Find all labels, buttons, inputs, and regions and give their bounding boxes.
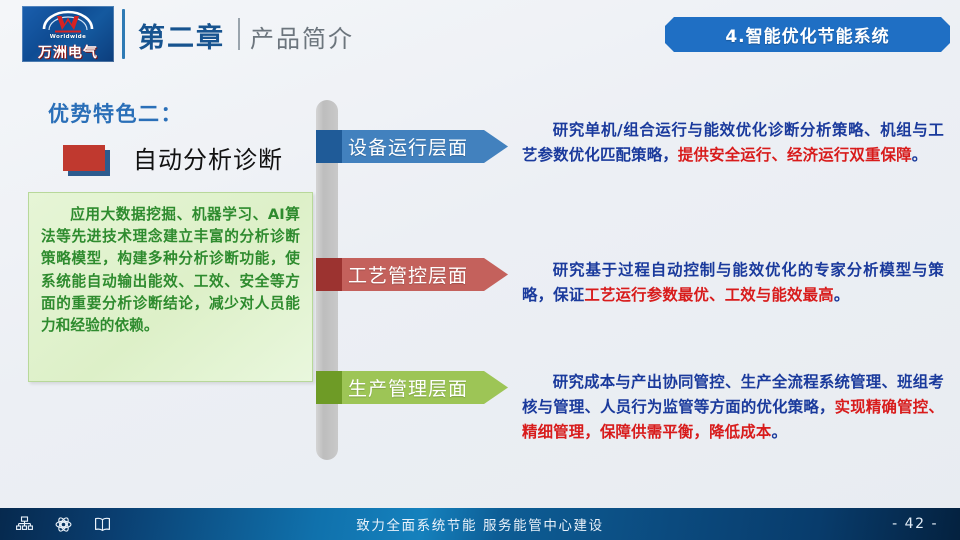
chapter-title: 第二章 (138, 16, 225, 55)
desc-tail: 。 (771, 423, 787, 441)
level-arrow-label: 生产管理层面 (342, 374, 508, 401)
desc-tail: 。 (912, 146, 928, 164)
level-description-equipment: 研究单机/组合运行与能效优化诊断分析策略、机组与工艺参数优化匹配策略，提供安全运… (522, 118, 944, 168)
logo-company-name: 万洲电气 (38, 42, 98, 62)
level-arrow-label: 工艺管控层面 (342, 261, 508, 288)
header-accent-bar (122, 9, 125, 59)
arrow-cap (316, 371, 342, 404)
slide-canvas: Worldwide 万洲电气 第二章 产品简介 4.智能优化节能系统 优势特色二… (0, 0, 960, 540)
level-arrow-label: 设备运行层面 (342, 133, 508, 160)
desc-tail: 。 (834, 286, 850, 304)
company-logo: Worldwide 万洲电气 (22, 6, 114, 62)
level-arrow-production[interactable]: 生产管理层面 (316, 371, 508, 404)
header-separator (238, 18, 240, 50)
topic-badge: 4.智能优化节能系统 (665, 17, 950, 52)
level-description-production: 研究成本与产出协同管控、生产全流程系统管理、班组考核与管理、人员行为监管等方面的… (522, 370, 944, 445)
page-number: - 42 - (892, 508, 938, 540)
chapter-subtitle: 产品简介 (250, 19, 354, 54)
desc-highlight: 提供安全运行、经济运行双重保障 (678, 146, 912, 164)
arrow-cap (316, 130, 342, 163)
w-shield-icon (40, 9, 96, 35)
page-number-text: - 42 - (892, 516, 938, 532)
feature-bullet: 自动分析诊断 (63, 140, 283, 175)
level-description-process: 研究基于过程自动控制与能效优化的专家分析模型与策略，保证工艺运行参数最优、工效与… (522, 258, 944, 308)
feature-heading: 优势特色二： (48, 98, 183, 128)
description-callout: 应用大数据挖掘、机器学习、AI算法等先进技术理念建立丰富的分析诊断策略模型，构建… (28, 192, 313, 382)
arrow-cap (316, 258, 342, 291)
topic-badge-label: 4.智能优化节能系统 (725, 22, 889, 47)
footer-slogan-text: 致力全面系统节能 服务能管中心建设 (356, 514, 604, 534)
feature-bullet-label: 自动分析诊断 (133, 140, 283, 175)
level-arrow-equipment[interactable]: 设备运行层面 (316, 130, 508, 163)
level-arrow-process[interactable]: 工艺管控层面 (316, 258, 508, 291)
red-square-marker-icon (63, 145, 105, 171)
description-text: 应用大数据挖掘、机器学习、AI算法等先进技术理念建立丰富的分析诊断策略模型，构建… (41, 204, 300, 337)
desc-highlight: 工艺运行参数最优、工效与能效最高 (584, 286, 833, 304)
footer-bar: 致力全面系统节能 服务能管中心建设 - 42 - (0, 508, 960, 540)
footer-slogan: 致力全面系统节能 服务能管中心建设 (0, 508, 960, 540)
